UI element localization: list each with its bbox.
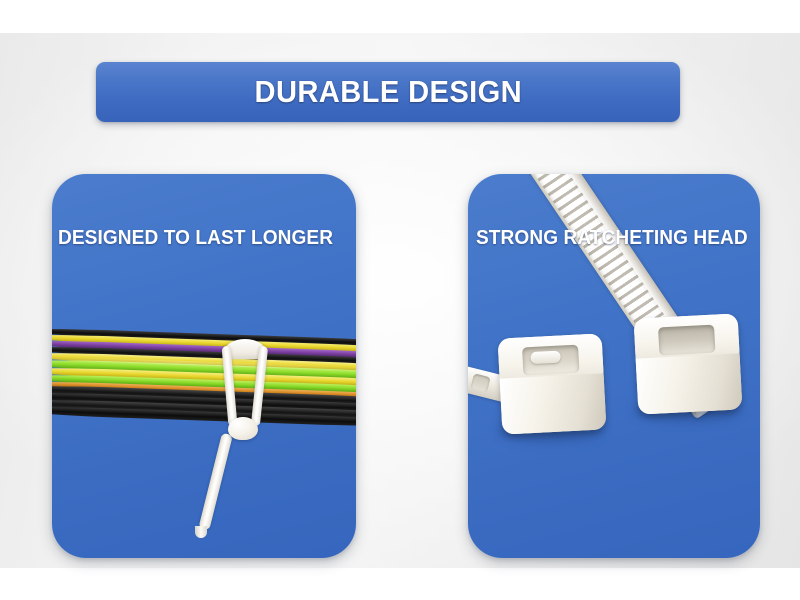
product-feature-graphic: DURABLE DESIGN	[0, 0, 800, 600]
background-bottom-band	[0, 568, 800, 600]
cable-tie-head-right	[634, 313, 743, 414]
head-front-face-right	[636, 353, 743, 414]
head-front-face-left	[500, 373, 607, 434]
ratchet-slot-right	[658, 325, 715, 356]
feature-card-title-designed-to-last-longer: DESIGNED TO LAST LONGER	[58, 226, 333, 250]
ratchet-pawl-left	[530, 351, 561, 365]
page-title: DURABLE DESIGN	[254, 74, 522, 110]
cable-tie-tail-tip	[195, 526, 207, 538]
background-top-band	[0, 0, 800, 33]
cable-tie-head	[228, 417, 258, 440]
title-banner: DURABLE DESIGN	[96, 62, 680, 122]
feature-card-title-strong-ratcheting-head: STRONG RATCHETING HEAD	[476, 226, 748, 250]
wire-bundle	[52, 325, 356, 431]
strap-slot	[470, 373, 490, 393]
cable-tie-head-left	[498, 333, 607, 434]
cable-tie-tail	[198, 433, 232, 531]
